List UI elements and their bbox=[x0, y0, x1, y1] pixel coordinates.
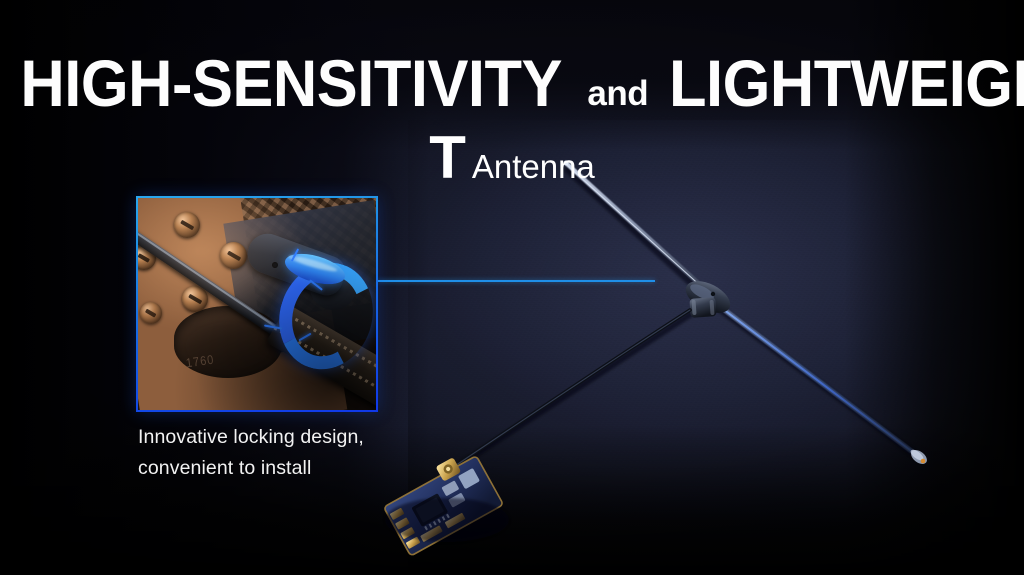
promo-banner: HIGH-SENSITIVITYandLIGHTWEIGHT TAntenna … bbox=[0, 0, 1024, 575]
headline-connector: and bbox=[582, 74, 653, 113]
inset-photo-locking-clip: 1760 bbox=[136, 196, 378, 412]
inset-lighting bbox=[138, 198, 376, 410]
callout-leader-line bbox=[378, 280, 655, 282]
subheadline-letter: T bbox=[429, 124, 466, 191]
headline: HIGH-SENSITIVITYandLIGHTWEIGHT bbox=[0, 50, 1024, 116]
subheadline-word: Antenna bbox=[466, 148, 595, 185]
inset-photo-image: 1760 bbox=[138, 198, 376, 410]
caption-line-2: convenient to install bbox=[138, 453, 364, 484]
caption-line-1: Innovative locking design, bbox=[138, 422, 364, 453]
inset-caption: Innovative locking design, convenient to… bbox=[138, 422, 364, 484]
subheadline: TAntenna bbox=[0, 128, 1024, 188]
headline-part2: LIGHTWEIGHT bbox=[669, 50, 1024, 116]
headline-part1: HIGH-SENSITIVITY bbox=[20, 50, 562, 116]
